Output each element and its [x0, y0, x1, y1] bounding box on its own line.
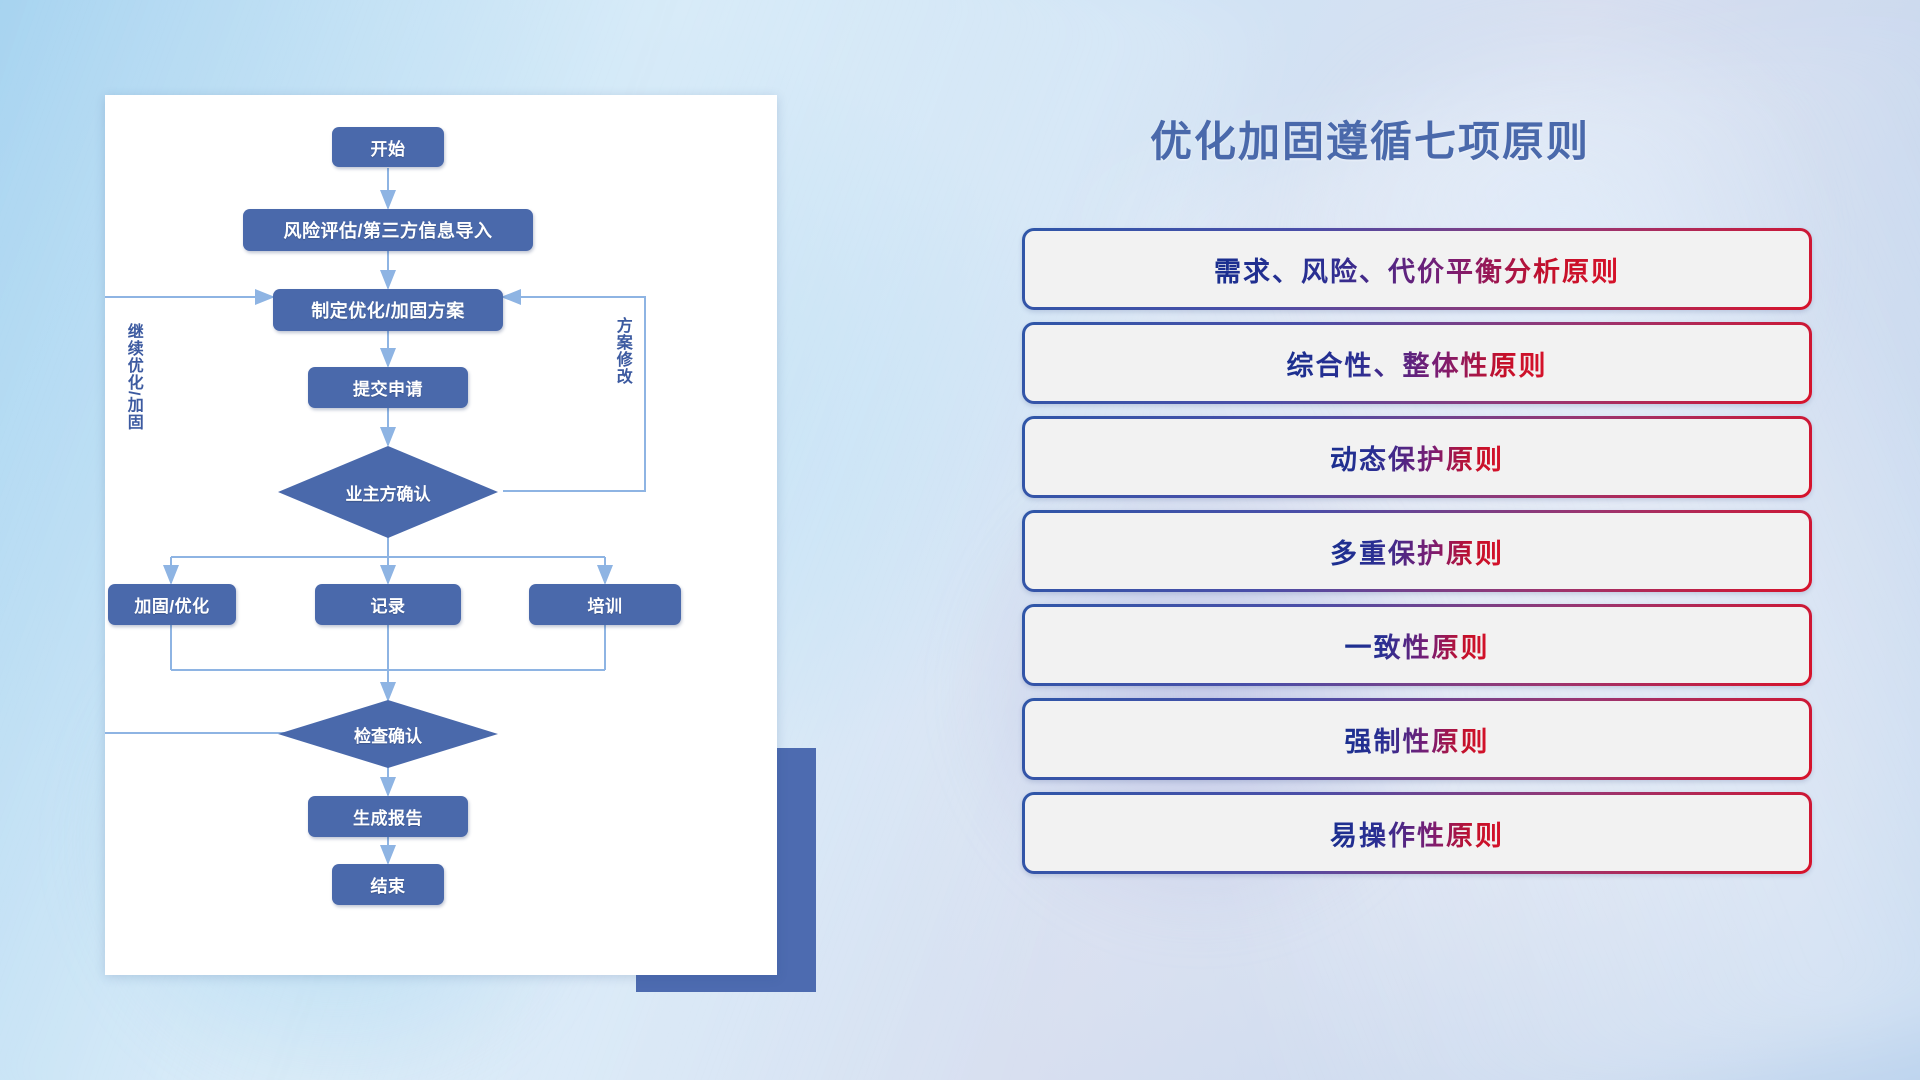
principles-list: 需求、风险、代价平衡分析原则 综合性、整体性原则 动态保护原则 多重保护原则 一…	[1022, 228, 1812, 886]
page-title: 优化加固遵循七项原则	[1150, 108, 1590, 169]
principle-item-label: 动态保护原则	[1330, 438, 1504, 477]
flow-node-owner-confirm[interactable]: 业主方确认	[278, 446, 498, 538]
principle-item-surface: 强制性原则	[1025, 701, 1809, 777]
principle-item-3[interactable]: 动态保护原则	[1022, 416, 1812, 498]
flow-node-owner-confirm-label: 业主方确认	[346, 480, 431, 505]
flow-node-training[interactable]: 培训	[529, 584, 681, 625]
principle-item-5[interactable]: 一致性原则	[1022, 604, 1812, 686]
flow-node-make-plan[interactable]: 制定优化/加固方案	[273, 289, 503, 331]
principle-item-2[interactable]: 综合性、整体性原则	[1022, 322, 1812, 404]
principle-item-label: 多重保护原则	[1330, 532, 1504, 571]
flow-node-start-label: 开始	[371, 135, 406, 160]
flow-node-generate-report[interactable]: 生成报告	[308, 796, 468, 837]
flow-node-check-confirm-label: 检查确认	[354, 722, 422, 747]
principle-item-6[interactable]: 强制性原则	[1022, 698, 1812, 780]
flow-node-reinforce-optimize-label: 加固/优化	[134, 592, 209, 617]
flow-node-make-plan-label: 制定优化/加固方案	[311, 297, 465, 323]
principle-item-surface: 易操作性原则	[1025, 795, 1809, 871]
flow-node-submit-application[interactable]: 提交申请	[308, 367, 468, 408]
flow-node-generate-report-label: 生成报告	[353, 804, 423, 829]
principle-item-label: 需求、风险、代价平衡分析原则	[1214, 250, 1620, 289]
flowchart: 开始 风险评估/第三方信息导入 制定优化/加固方案 提交申请 业主方确认 加固/…	[105, 95, 777, 975]
principle-item-4[interactable]: 多重保护原则	[1022, 510, 1812, 592]
flow-node-check-confirm[interactable]: 检查确认	[278, 700, 498, 768]
flow-node-end-label: 结束	[371, 872, 406, 897]
flow-node-training-label: 培训	[588, 592, 623, 617]
flow-node-reinforce-optimize[interactable]: 加固/优化	[108, 584, 236, 625]
principle-item-surface: 动态保护原则	[1025, 419, 1809, 495]
principle-item-surface: 需求、风险、代价平衡分析原则	[1025, 231, 1809, 307]
principle-item-surface: 多重保护原则	[1025, 513, 1809, 589]
flow-node-end[interactable]: 结束	[332, 864, 444, 905]
flow-node-submit-application-label: 提交申请	[353, 375, 423, 400]
flow-node-risk-assessment-label: 风险评估/第三方信息导入	[284, 217, 493, 243]
flow-node-risk-assessment[interactable]: 风险评估/第三方信息导入	[243, 209, 533, 251]
flow-edge-label-plan-revision: 方案修改	[613, 317, 630, 427]
principle-item-surface: 一致性原则	[1025, 607, 1809, 683]
principle-item-7[interactable]: 易操作性原则	[1022, 792, 1812, 874]
flow-edge-label-continue-optimize: 继续优化/加固	[124, 323, 141, 458]
flow-node-record-label: 记录	[371, 592, 406, 617]
flow-node-start[interactable]: 开始	[332, 127, 444, 167]
flow-node-record[interactable]: 记录	[315, 584, 461, 625]
principle-item-label: 一致性原则	[1345, 626, 1490, 665]
principle-item-surface: 综合性、整体性原则	[1025, 325, 1809, 401]
principle-item-label: 易操作性原则	[1330, 814, 1504, 853]
principle-item-1[interactable]: 需求、风险、代价平衡分析原则	[1022, 228, 1812, 310]
principle-item-label: 综合性、整体性原则	[1287, 344, 1548, 383]
principle-item-label: 强制性原则	[1345, 720, 1490, 759]
flowchart-card: 开始 风险评估/第三方信息导入 制定优化/加固方案 提交申请 业主方确认 加固/…	[105, 95, 777, 975]
